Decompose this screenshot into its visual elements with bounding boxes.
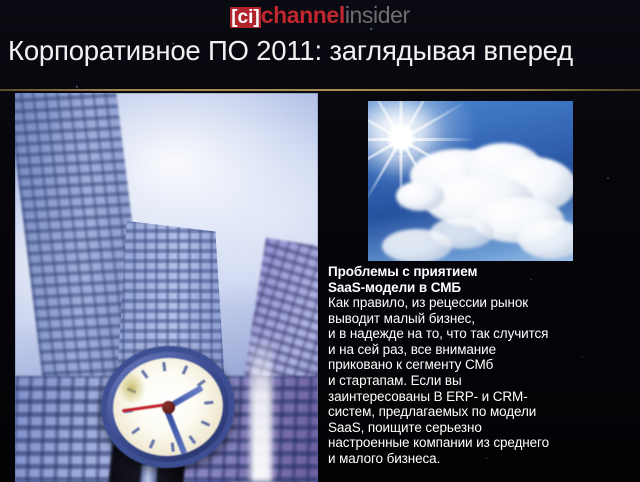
logo-ci-badge: [ci] bbox=[230, 7, 261, 28]
clock-tick bbox=[131, 427, 140, 435]
copy-body-line: приковано к сегменту СМб bbox=[328, 357, 634, 373]
logo-channel-text: channel bbox=[261, 2, 345, 28]
copy-body-line: систем, предлагаемых по модели bbox=[328, 404, 634, 420]
presentation-slide: [ci]channelinsider Корпоративное ПО 2011… bbox=[0, 0, 640, 482]
copy-body-line: и малого бизнеса. bbox=[328, 451, 634, 467]
copy-body-line: настроенные компании из среднего bbox=[328, 435, 634, 451]
sky-clouds-photo bbox=[368, 101, 573, 261]
copy-heading: Проблемы с приятием SaaS-модели в СМБ bbox=[328, 264, 634, 295]
clock-tick bbox=[170, 443, 174, 452]
logo-ci-text: ci bbox=[238, 7, 254, 28]
copy-body-line: и в надежде на то, что так случится bbox=[328, 326, 634, 342]
clock-hub bbox=[161, 400, 175, 414]
clock-tick bbox=[188, 435, 196, 444]
copy-body-line: заинтересованы В ERP- и CRM- bbox=[328, 389, 634, 405]
clock-tick bbox=[140, 370, 148, 379]
copy-body-line: выводит малый бизнес, bbox=[328, 311, 634, 327]
clock-tick bbox=[200, 420, 209, 426]
copy-body: Как правило, из рецессии рынок выводит м… bbox=[328, 295, 634, 467]
clock-second-hand bbox=[122, 403, 168, 412]
copy-body-line: SaaS, поищите серьезно bbox=[328, 420, 634, 436]
clock-tick bbox=[162, 362, 166, 371]
page-title: Корпоративное ПО 2011: заглядывая вперед bbox=[8, 36, 640, 66]
copy-body-line: и стартапам. Если вы bbox=[328, 373, 634, 389]
cloud-shape bbox=[396, 181, 444, 211]
copy-body-line: и на сей раз, все внимание bbox=[328, 342, 634, 358]
building-highlight bbox=[250, 332, 272, 482]
sun-icon bbox=[384, 121, 418, 155]
clock-tick bbox=[126, 387, 135, 393]
clock-tick bbox=[181, 365, 187, 374]
logo-ci-mark: [ci] bbox=[230, 2, 261, 28]
copy-body-line: Как правило, из рецессии рынок bbox=[328, 295, 634, 311]
skyscraper-clock-photo bbox=[15, 93, 318, 482]
logo-insider-text: insider bbox=[345, 2, 410, 28]
cloud-shape bbox=[430, 217, 494, 249]
clock-tick bbox=[148, 439, 154, 448]
clock-tick bbox=[204, 401, 213, 405]
copy-heading-line: Проблемы с приятием bbox=[328, 264, 634, 280]
copy-heading-line: SaaS-модели в СМБ bbox=[328, 280, 634, 296]
logo-bracket-right: ] bbox=[253, 7, 259, 28]
slide-copy: Проблемы с приятием SaaS-модели в СМБ Ка… bbox=[328, 264, 634, 467]
gold-divider bbox=[0, 89, 640, 91]
channel-insider-logo: [ci]channelinsider bbox=[0, 4, 640, 27]
